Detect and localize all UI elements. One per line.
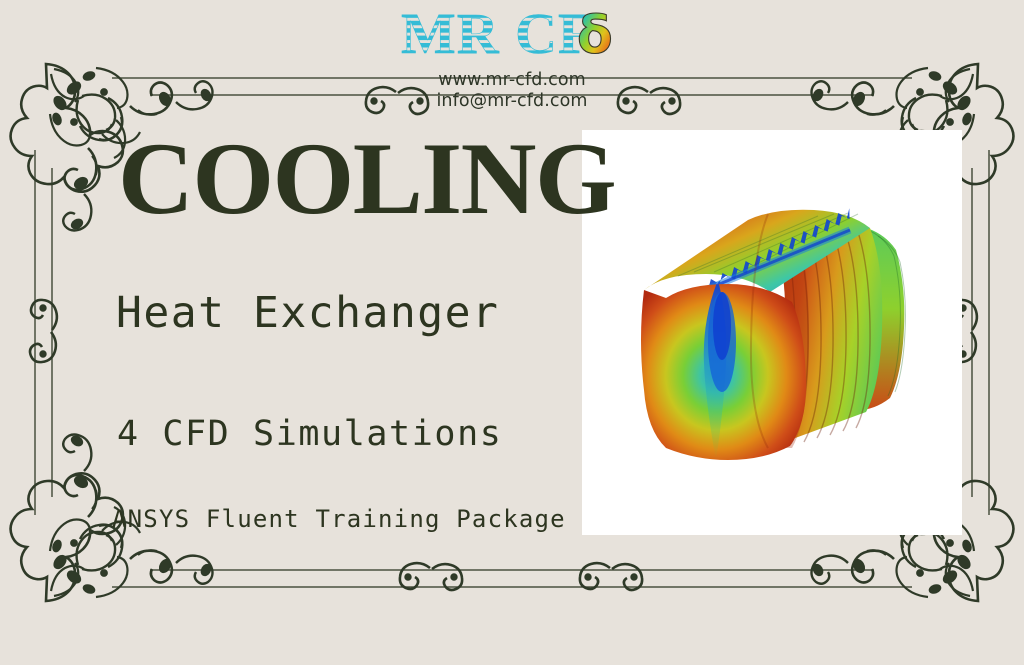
border-flourish-bottom-left <box>400 563 462 590</box>
border-flourish-top-left <box>366 87 428 114</box>
poster-canvas: MR CF δ www.mr-cfd.com info@mr-cfd.com C… <box>0 0 1024 665</box>
subtitle-simulations-count: 4 CFD Simulations <box>117 414 502 454</box>
border-flourish-left-middle <box>30 300 57 362</box>
cfd-temperature-contour <box>582 130 962 535</box>
subtitle-training-package: ANSYS Fluent Training Package <box>112 505 566 533</box>
subtitle-heat-exchanger: Heat Exchanger <box>116 289 499 337</box>
cfd-figure-panel <box>582 130 962 535</box>
page-title: COOLING <box>118 127 615 231</box>
border-flourish-top-right <box>618 87 680 114</box>
border-flourish-bottom-right <box>580 563 642 590</box>
